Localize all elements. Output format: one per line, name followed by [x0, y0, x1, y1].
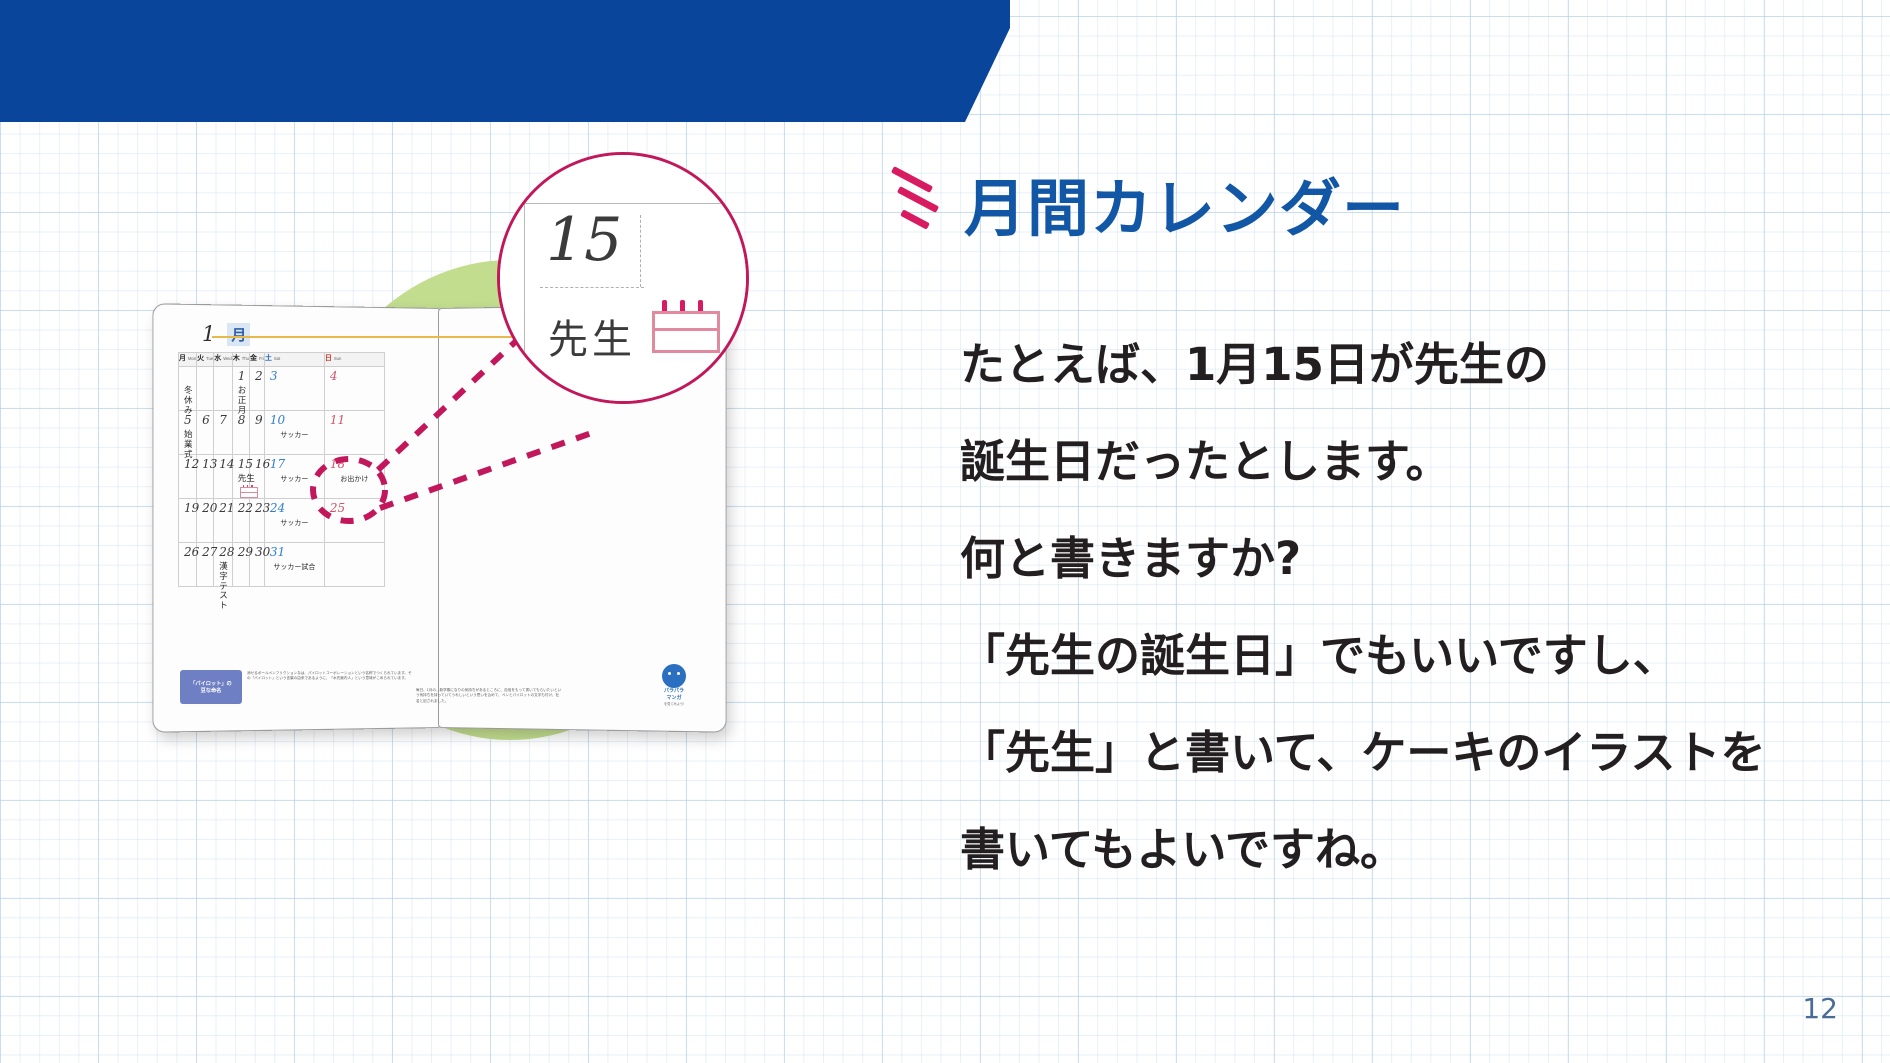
calendar-day-cell[interactable]: 10サッカー	[264, 411, 324, 455]
calendar-day-cell[interactable]: 13	[197, 455, 214, 499]
logo-line1: パラパラ	[654, 689, 694, 695]
calendar-month-label: 1 月	[202, 322, 250, 346]
weekday-en: Sun	[334, 356, 341, 361]
pilot-badge: 「パイロット」の 豆な命名	[180, 670, 242, 704]
day-number: 6	[202, 413, 210, 427]
calendar-day-cell[interactable]: 31サッカー試合	[264, 543, 324, 587]
day-number: 11	[330, 413, 345, 427]
calendar-day-cell[interactable]: 15先生	[232, 455, 249, 499]
slide-root: 1 月 月Mon 火Tue 水Wed	[0, 0, 1890, 1063]
day-event-label: サッカー試合	[265, 563, 324, 571]
body-text: たとえば、1月15日が先生の誕生日だったとします。何と書きますか?「先生の誕生日…	[960, 316, 1880, 898]
body-line: 「先生」と書いて、ケーキのイラストを	[960, 704, 1880, 801]
badge-line2: 豆な命名	[201, 687, 222, 694]
calendar-day-cell[interactable]: 1お正月	[232, 367, 249, 411]
calendar-day-cell[interactable]: 22	[232, 499, 249, 543]
day-number: 3	[270, 369, 278, 383]
weekday-en: Mon	[188, 356, 196, 361]
weekday-header-sat: 土Sat	[264, 353, 324, 367]
day-number: 8	[238, 413, 246, 427]
calendar-day-cell[interactable]: 14	[214, 455, 233, 499]
calendar-week-row: 262728漢字テスト293031サッカー試合	[179, 543, 385, 587]
day-number: 17	[270, 457, 285, 471]
weekday-kanji: 金	[250, 355, 257, 362]
calendar-day-cell[interactable]: 24サッカー	[264, 499, 324, 543]
calendar-day-cell[interactable]: 27	[197, 543, 214, 587]
weekday-kanji: 土	[265, 355, 272, 362]
body-line: 「先生の誕生日」でもいいですし、	[960, 607, 1880, 704]
day-number: 2	[255, 369, 263, 383]
day-number: 31	[270, 545, 285, 559]
cake-body	[652, 311, 720, 353]
calendar-header-row: 月Mon 火Tue 水Wed 木Thu	[179, 353, 385, 367]
calendar-day-cell[interactable]: 16	[249, 455, 264, 499]
logo-line3: を見てみよう!	[654, 701, 694, 706]
weekday-header-tue: 火Tue	[197, 353, 214, 367]
calendar-table: 月Mon 火Tue 水Wed 木Thu	[178, 352, 385, 587]
magnifier-circle: 15 先生	[497, 152, 749, 404]
calendar-day-cell[interactable]: 19	[179, 499, 197, 543]
smiley-face-icon	[662, 664, 686, 688]
day-number: 10	[270, 413, 285, 427]
calendar-body: 冬休み1お正月2345始業式678910サッカー1112131415先生1617…	[179, 367, 385, 587]
weekday-header-fri: 金Fri	[249, 353, 264, 367]
calendar-week-row: 12131415先生1617サッカー18お出かけ	[179, 455, 385, 499]
cell-border-vertical	[524, 152, 525, 404]
weekday-en: Tue	[206, 356, 213, 361]
calendar-day-cell[interactable]: 7	[214, 411, 233, 455]
calendar-day-cell[interactable]: 2	[249, 367, 264, 411]
parapara-manga-logo: パラパラ マンガ を見てみよう!	[654, 664, 694, 706]
weekday-en: Fri	[259, 356, 264, 361]
day-number: 5	[184, 413, 192, 427]
weekday-kanji: 火	[197, 355, 204, 362]
body-line: たとえば、1月15日が先生の	[960, 316, 1880, 413]
cell-border-horizontal	[524, 203, 749, 204]
calendar-day-cell[interactable]: 21	[214, 499, 233, 543]
day-event-label: サッカー	[265, 519, 324, 527]
calendar-day-cell[interactable]: 17サッカー	[264, 455, 324, 499]
calendar-day-cell[interactable]: 30	[249, 543, 264, 587]
calendar-day-cell[interactable]: 12	[179, 455, 197, 499]
weekday-en: Sat	[274, 356, 280, 361]
guide-line-vertical	[640, 215, 641, 287]
calendar-week-row: 5始業式678910サッカー11	[179, 411, 385, 455]
calendar-week-row: 冬休み1お正月234	[179, 367, 385, 411]
calendar-day-cell[interactable]: 28漢字テスト	[214, 543, 233, 587]
weekday-kanji: 木	[233, 355, 240, 362]
calendar-day-cell[interactable]	[197, 367, 214, 411]
day-event-label: お出かけ	[325, 475, 384, 483]
month-number: 1	[202, 322, 215, 346]
calendar-day-cell[interactable]: 18お出かけ	[324, 455, 384, 499]
day-number: 4	[330, 369, 338, 383]
day-event-label: サッカー	[265, 431, 324, 439]
calendar-day-cell[interactable]: 5始業式	[179, 411, 197, 455]
weekday-header-wed: 水Wed	[214, 353, 233, 367]
day-event-label: 漢字テスト	[219, 563, 232, 612]
day-number: 9	[255, 413, 263, 427]
notebook-footer-left: 「パイロット」の 豆な命名 消せるボールペンフリクションなは、パイロットコーポレ…	[180, 670, 412, 704]
calendar-day-cell[interactable]: 冬休み	[179, 367, 197, 411]
footer-note-left: 消せるボールペンフリクションなは、パイロットコーポレーションという名称でつくられ…	[247, 670, 412, 704]
calendar-day-cell[interactable]: 3	[264, 367, 324, 411]
month-kanji: 月	[227, 323, 250, 346]
day-number: 1	[238, 369, 246, 383]
calendar-day-cell[interactable]: 9	[249, 411, 264, 455]
magnified-note-text: 先生	[548, 307, 636, 365]
calendar-day-cell[interactable]: 25	[324, 499, 384, 543]
weekday-kanji: 水	[214, 355, 221, 362]
day-event-label: サッカー	[265, 475, 324, 483]
magnified-day-number: 15	[546, 205, 622, 275]
footer-note-right: 毎日、1月の、新学期になりの気持ちがあるところに、自信をもって書いてもらいたいと…	[416, 688, 562, 704]
day-number: 25	[330, 501, 345, 515]
weekday-kanji: 月	[179, 355, 186, 362]
day-number: 18	[330, 457, 345, 471]
calendar-day-cell[interactable]: 23	[249, 499, 264, 543]
calendar-day-cell[interactable]: 26	[179, 543, 197, 587]
calendar-day-cell[interactable]	[214, 367, 233, 411]
calendar-day-cell[interactable]: 4	[324, 367, 384, 411]
guide-line-horizontal	[540, 287, 644, 288]
page-title: 月間カレンダー	[964, 158, 1405, 248]
page-number: 12	[1802, 992, 1838, 1025]
calendar-day-cell[interactable]: 6	[197, 411, 214, 455]
badge-line1: 「パイロット」の	[190, 680, 232, 687]
weekday-en: Wed	[223, 356, 232, 361]
calendar-day-cell[interactable]: 20	[197, 499, 214, 543]
body-line: 誕生日だったとします。	[960, 413, 1880, 510]
day-number: 24	[270, 501, 285, 515]
calendar-day-cell[interactable]	[324, 543, 384, 587]
weekday-header-sun: 日Sun	[324, 353, 384, 367]
sparkle-icon	[884, 168, 954, 234]
calendar-week-row: 192021222324サッカー25	[179, 499, 385, 543]
birthday-cake-icon	[652, 297, 714, 353]
calendar-day-cell[interactable]: 11	[324, 411, 384, 455]
header-band	[0, 0, 1010, 122]
magnifier-content: 15 先生	[500, 155, 746, 401]
weekday-en: Thu	[242, 356, 249, 361]
body-line: 書いてもよいですね。	[960, 801, 1880, 898]
weekday-header-mon: 月Mon	[179, 353, 197, 367]
body-line: 何と書きますか?	[960, 510, 1880, 607]
weekday-header-thu: 木Thu	[232, 353, 249, 367]
day-number: 7	[219, 413, 227, 427]
calendar-day-cell[interactable]: 29	[232, 543, 249, 587]
calendar-day-cell[interactable]: 8	[232, 411, 249, 455]
weekday-kanji: 日	[325, 355, 332, 362]
